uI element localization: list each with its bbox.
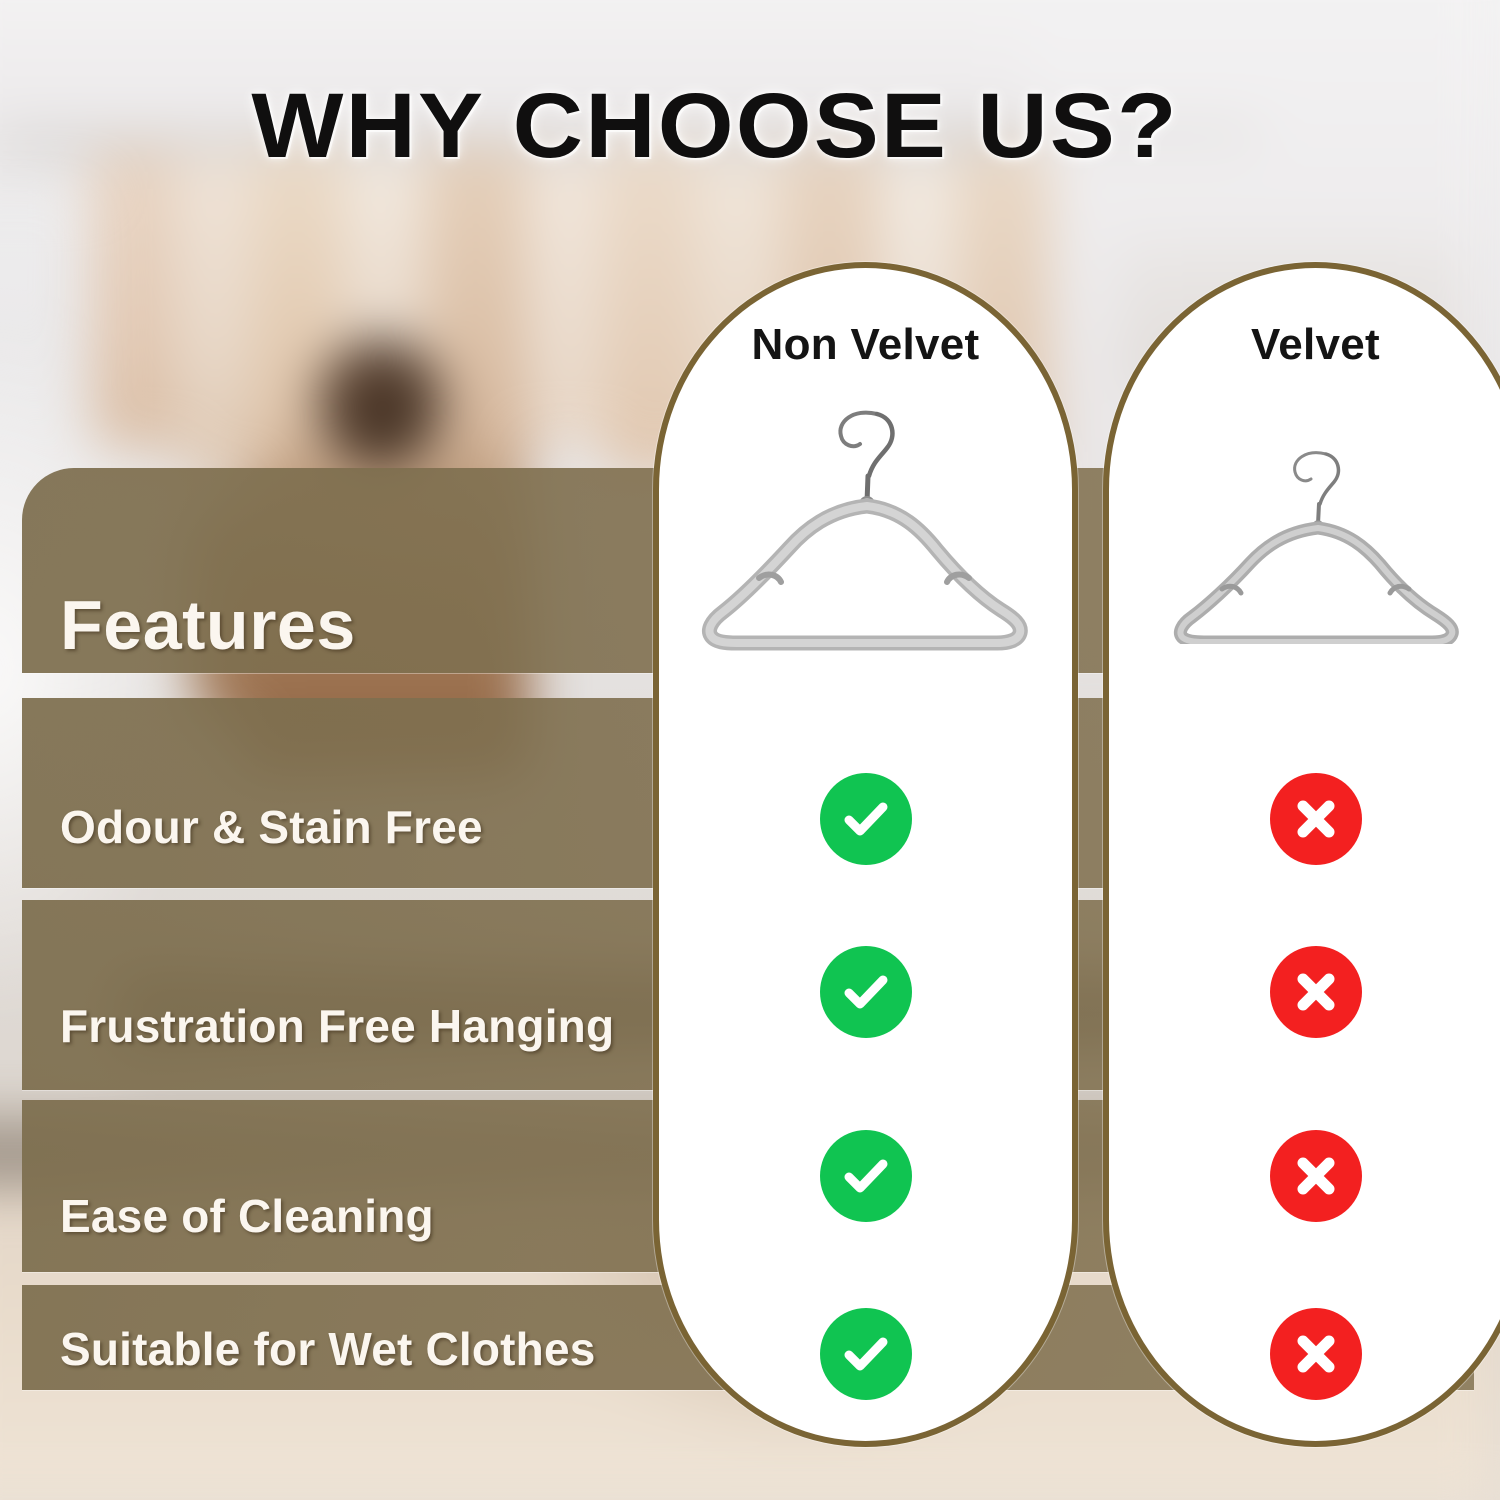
- column-header-non-velvet: Non Velvet: [659, 320, 1072, 370]
- velvet-hanger-icon: [1109, 444, 1500, 644]
- check-icon: [820, 1130, 912, 1222]
- column-header-velvet: Velvet: [1109, 320, 1500, 370]
- feature-label: Ease of Cleaning: [22, 1189, 434, 1243]
- check-icon: [820, 773, 912, 865]
- column-velvet: Velvet: [1103, 262, 1500, 1447]
- feature-label: Odour & Stain Free: [22, 800, 483, 854]
- infographic-canvas: WHY CHOOSE US? Features Odour & Stain Fr…: [0, 0, 1500, 1500]
- cross-icon: [1270, 946, 1362, 1038]
- cross-icon: [1270, 1308, 1362, 1400]
- check-icon: [820, 946, 912, 1038]
- check-icon: [820, 1308, 912, 1400]
- cross-icon: [1270, 1130, 1362, 1222]
- plastic-hanger-icon: [659, 402, 1072, 652]
- feature-label: Suitable for Wet Clothes: [22, 1322, 596, 1376]
- feature-label: Frustration Free Hanging: [22, 999, 614, 1053]
- features-heading: Features: [22, 585, 356, 673]
- column-non-velvet: Non Velvet: [653, 262, 1078, 1447]
- page-title: WHY CHOOSE US?: [0, 74, 1473, 179]
- cross-icon: [1270, 773, 1362, 865]
